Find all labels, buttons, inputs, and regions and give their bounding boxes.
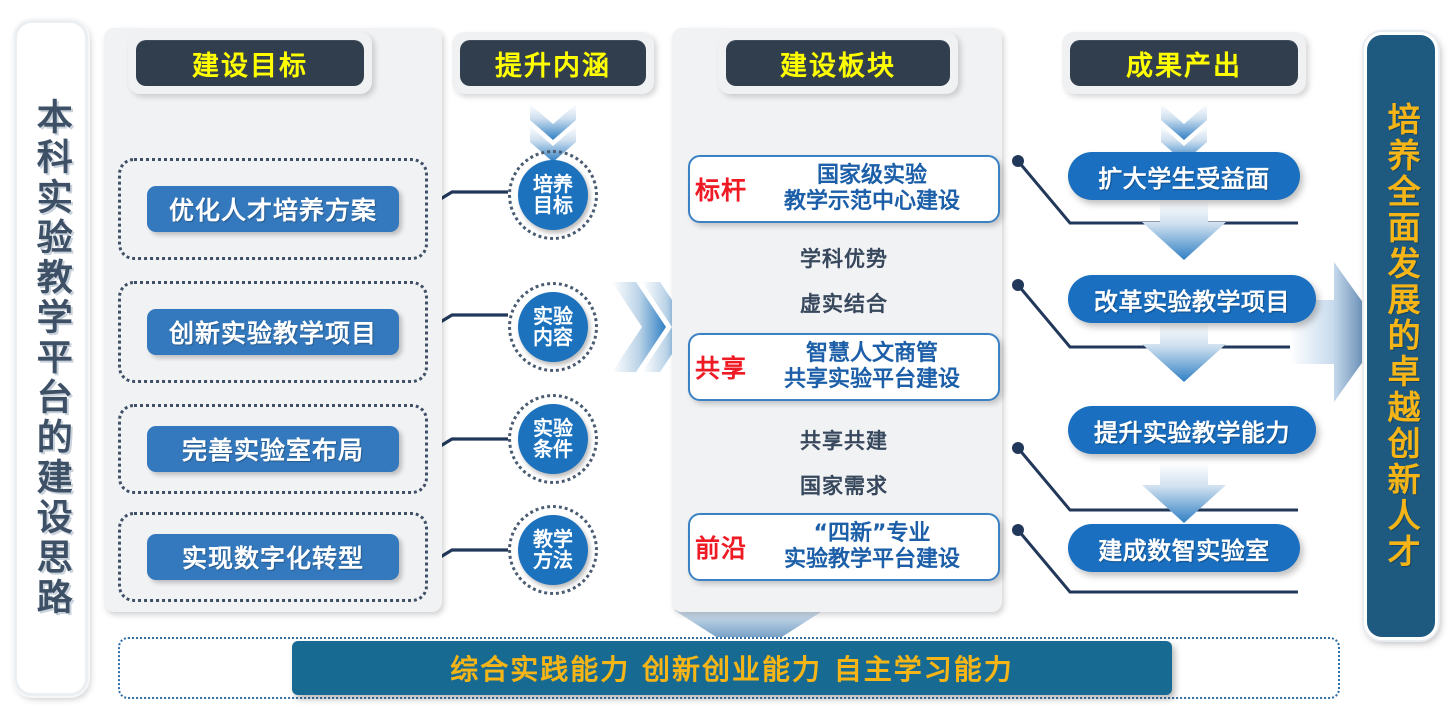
module-label-1-top: 学科优势 bbox=[788, 243, 900, 273]
left-title-panel: 本科实验教学平台的建设思路 bbox=[14, 20, 88, 696]
header-goals: 建设目标 bbox=[128, 32, 372, 94]
outcome-pill-3[interactable]: 提升实验教学能力 bbox=[1068, 406, 1316, 454]
module-block-2-text: 智慧人文商管共享实验平台建设 bbox=[752, 341, 998, 394]
module-block-2-tag: 共享 bbox=[690, 349, 752, 385]
header-outcomes-label: 成果产出 bbox=[1070, 40, 1298, 86]
connotation-circle-4-text: 教学方法 bbox=[518, 515, 588, 585]
left-title-text: 本科实验教学平台的建设思路 bbox=[32, 98, 69, 618]
right-goal-text: 培养全面发展的卓越创新人才 bbox=[1384, 102, 1418, 570]
connotation-circle-3[interactable]: 实验条件 bbox=[508, 394, 598, 484]
outcome-pill-4[interactable]: 建成数智实验室 bbox=[1068, 524, 1300, 572]
connotation-circle-2-text: 实验内容 bbox=[518, 292, 588, 362]
module-block-3-tag: 前沿 bbox=[690, 529, 752, 565]
module-label-2-bottom: 国家需求 bbox=[788, 470, 900, 500]
goal-label-3: 完善实验室布局 bbox=[147, 426, 399, 472]
goal-card-4[interactable]: 实现数字化转型 bbox=[118, 512, 428, 602]
right-goal-panel: 培养全面发展的卓越创新人才 bbox=[1364, 32, 1438, 640]
bottom-capabilities-bar: 综合实践能力 创新创业能力 自主学习能力 bbox=[292, 641, 1172, 695]
goal-card-3[interactable]: 完善实验室布局 bbox=[118, 404, 428, 494]
goal-card-2[interactable]: 创新实验教学项目 bbox=[118, 281, 428, 383]
connotation-circle-1[interactable]: 培养目标 bbox=[508, 150, 598, 240]
outcome-down-arrows bbox=[1142, 200, 1226, 523]
outcome-pill-2[interactable]: 改革实验教学项目 bbox=[1068, 275, 1316, 323]
diagram-canvas: 本科实验教学平台的建设思路 培养全面发展的卓越创新人才 建设目标 提升内涵 建设… bbox=[0, 0, 1450, 716]
module-block-1-tag: 标杆 bbox=[690, 171, 752, 207]
header-outcomes: 成果产出 bbox=[1062, 32, 1306, 94]
header-goals-label: 建设目标 bbox=[136, 40, 364, 86]
goal-card-1[interactable]: 优化人才培养方案 bbox=[118, 158, 428, 260]
goal-label-1: 优化人才培养方案 bbox=[147, 186, 399, 232]
header-modules: 建设板块 bbox=[718, 32, 958, 94]
connotation-circle-4[interactable]: 教学方法 bbox=[508, 505, 598, 595]
connotation-circle-3-text: 实验条件 bbox=[518, 404, 588, 474]
module-block-3-text: “四新”专业实验教学平台建设 bbox=[752, 521, 998, 574]
connector-dots-right bbox=[1012, 155, 1024, 536]
module-block-1[interactable]: 标杆 国家级实验教学示范中心建设 bbox=[688, 155, 1000, 223]
module-label-1-bottom: 虚实结合 bbox=[788, 288, 900, 318]
header-connotation-label: 提升内涵 bbox=[460, 40, 646, 86]
goal-label-4: 实现数字化转型 bbox=[147, 534, 399, 580]
module-label-2-top: 共享共建 bbox=[788, 425, 900, 455]
goal-label-2: 创新实验教学项目 bbox=[147, 309, 399, 355]
header-modules-label: 建设板块 bbox=[726, 40, 950, 86]
module-block-1-text: 国家级实验教学示范中心建设 bbox=[752, 163, 998, 216]
connotation-circle-2[interactable]: 实验内容 bbox=[508, 282, 598, 372]
connotation-circle-1-text: 培养目标 bbox=[518, 160, 588, 230]
outcome-pill-1[interactable]: 扩大学生受益面 bbox=[1068, 152, 1300, 200]
module-block-3[interactable]: 前沿 “四新”专业实验教学平台建设 bbox=[688, 513, 1000, 581]
module-block-2[interactable]: 共享 智慧人文商管共享实验平台建设 bbox=[688, 333, 1000, 401]
header-connotation: 提升内涵 bbox=[452, 32, 654, 94]
